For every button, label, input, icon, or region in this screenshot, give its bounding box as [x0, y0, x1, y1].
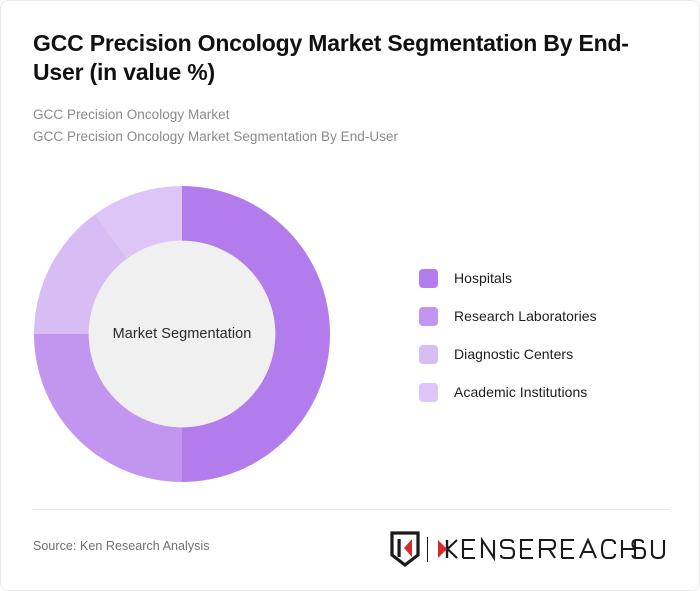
- legend-item-label: Diagnostic Centers: [454, 346, 573, 362]
- legend-item-label: Research Laboratories: [454, 308, 597, 324]
- chart-body: Market Segmentation HospitalsResearch La…: [1, 177, 700, 497]
- chart-footer: Source: Ken Research Analysis: [33, 529, 669, 569]
- legend-swatch: [419, 269, 438, 288]
- legend-item[interactable]: Research Laboratories: [419, 297, 669, 335]
- donut-hole: [89, 241, 275, 427]
- subtitle-segmentation: GCC Precision Oncology Market Segmentati…: [33, 126, 653, 148]
- legend-swatch: [419, 345, 438, 364]
- ken-research-shield-icon: [390, 531, 420, 567]
- legend-item-label: Academic Institutions: [454, 384, 587, 400]
- subtitle-block: GCC Precision Oncology Market GCC Precis…: [33, 104, 653, 148]
- donut-slice-group: [34, 186, 330, 482]
- page-title: GCC Precision Oncology Market Segmentati…: [33, 29, 633, 88]
- legend-item[interactable]: Hospitals: [419, 259, 669, 297]
- donut-chart: Market Segmentation: [34, 186, 330, 482]
- chart-header: GCC Precision Oncology Market Segmentati…: [33, 29, 653, 148]
- brand-separator: [427, 537, 429, 562]
- donut-chart-svg: [34, 186, 330, 482]
- subtitle-market: GCC Precision Oncology Market: [33, 104, 653, 126]
- chart-legend: HospitalsResearch LaboratoriesDiagnostic…: [419, 259, 669, 411]
- legend-item[interactable]: Academic Institutions: [419, 373, 669, 411]
- chart-card: GCC Precision Oncology Market Segmentati…: [0, 0, 700, 591]
- source-text: Source: Ken Research Analysis: [33, 539, 210, 553]
- ken-research-wordmark: [437, 537, 669, 561]
- legend-item-label: Hospitals: [454, 270, 512, 286]
- legend-swatch: [419, 307, 438, 326]
- footer-divider: [33, 509, 669, 510]
- legend-swatch: [419, 383, 438, 402]
- brand-logo: [390, 529, 670, 569]
- legend-item[interactable]: Diagnostic Centers: [419, 335, 669, 373]
